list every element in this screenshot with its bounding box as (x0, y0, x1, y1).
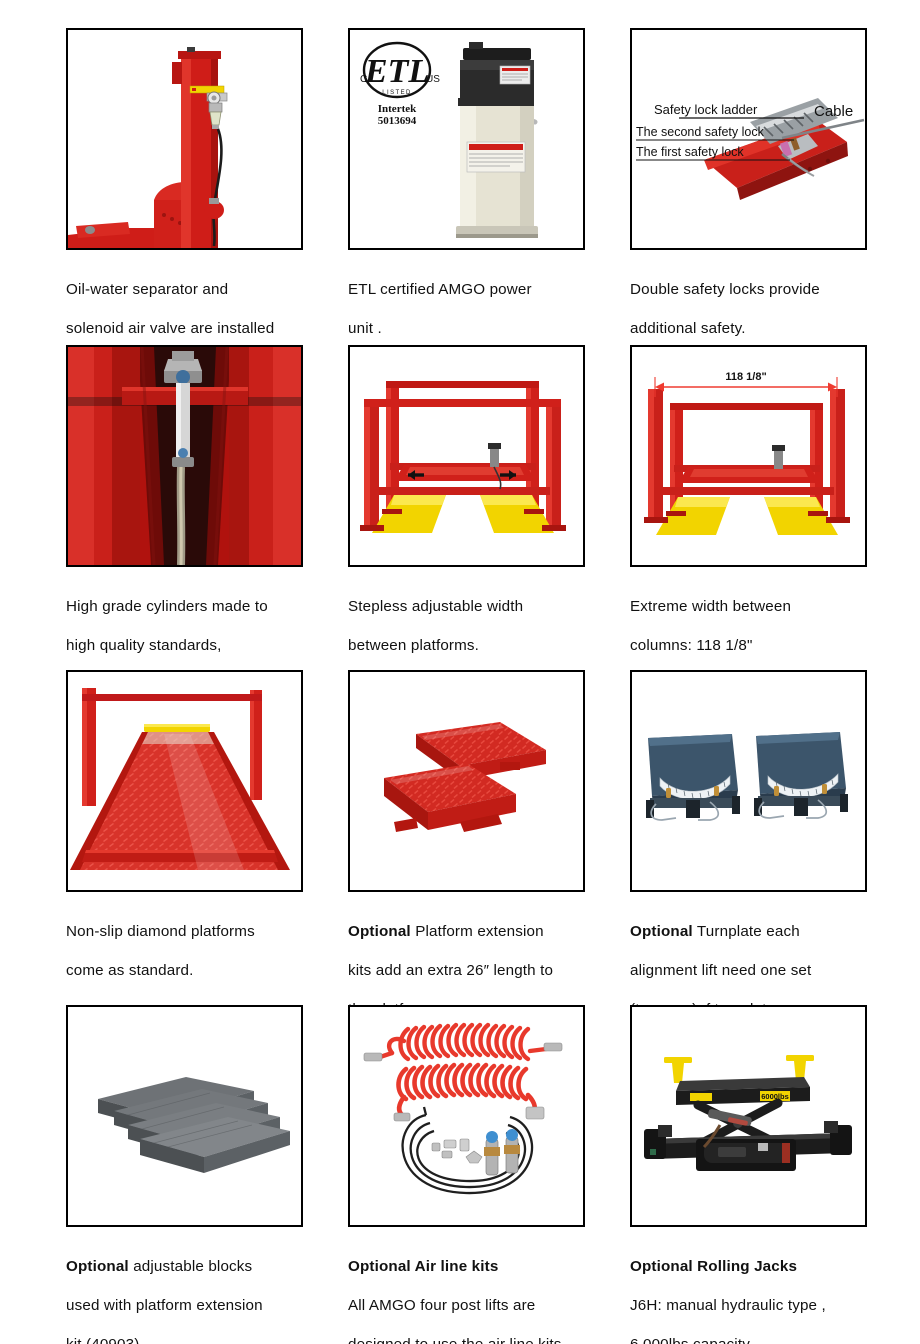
photo-panel-rolling-jacks: 6000lbs (630, 1005, 867, 1227)
caption-line: Optional Turnplate each (630, 922, 916, 941)
hose-fitting (394, 1113, 410, 1121)
etl-right-mark: US (426, 74, 440, 85)
illustration-rolling-jack: 6000lbs (632, 1007, 865, 1225)
caption-line: additional safety. (630, 319, 916, 338)
illustration-four-post-lift-width: 118 1/8" (632, 347, 865, 565)
caption-line: columns: 118 1/8" (630, 636, 916, 655)
optional-badge: Optional (630, 923, 693, 940)
feature-cell-extreme-width: 118 1/8" Extreme width between columns: … (630, 345, 916, 675)
caption-line: Non-slip diamond platforms (66, 922, 352, 941)
feature-cell-rolling-jacks: 6000lbs (630, 1005, 916, 1344)
feature-cell-double-safety-locks: Safety lock ladder Cable The second safe… (630, 28, 916, 358)
photo-panel-platform-extension-kits (348, 670, 585, 892)
etl-mark-text: ETL (364, 53, 429, 90)
turnplate-right (754, 732, 848, 818)
caption-etl-power-unit: ETL certified AMGO power unit . (348, 261, 634, 358)
illustration-platform-extension (350, 672, 583, 890)
caption-line: between platforms. (348, 636, 634, 655)
caption-line: Optional adjustable blocks (66, 1257, 352, 1276)
feature-cell-non-slip-platforms: Non-slip diamond platforms come as stand… (66, 670, 352, 1000)
label-cable: Cable (814, 103, 853, 120)
caption-line: Oil-water separator and (66, 280, 352, 299)
caption-stepless-adjustable-width: Stepless adjustable width between platfo… (348, 578, 634, 675)
photo-panel-etl-power-unit: ETL C US LISTED Intertek 5013694 (348, 28, 585, 250)
photo-panel-high-grade-cylinders (66, 345, 303, 567)
feature-cell-etl-power-unit: ETL C US LISTED Intertek 5013694 (348, 28, 634, 358)
caption-line: alignment lift need one set (630, 961, 916, 980)
caption-air-line-kits: Optional Air line kits All AMGO four pos… (348, 1238, 634, 1344)
caption-line: high quality standards, (66, 636, 352, 655)
feature-cell-air-line-kits: Optional Air line kits All AMGO four pos… (348, 1005, 634, 1344)
hose-fitting (526, 1107, 544, 1119)
caption-line: Double safety locks provide (630, 280, 916, 299)
etl-left-mark: C (360, 74, 367, 85)
illustration-turnplates (632, 672, 865, 890)
caption-heading: Optional Rolling Jacks (630, 1257, 916, 1276)
feature-cell-adjustable-blocks: Optional adjustable blocks used with pla… (66, 1005, 352, 1344)
photo-panel-stepless-adjustable-width (348, 345, 585, 567)
label-safety-lock-ladder: Safety lock ladder (654, 102, 758, 117)
etl-file-number: 5013694 (378, 115, 417, 127)
caption-line: solenoid air valve are installed (66, 319, 352, 338)
caption-line: 6,000lbs capacity. (630, 1335, 916, 1344)
caption-line-text: Platform extension (415, 923, 544, 940)
optional-badge: Optional (348, 923, 411, 940)
caption-line: J6H: manual hydraulic type , (630, 1296, 916, 1315)
illustration-air-line-kits (350, 1007, 583, 1225)
caption-line: ETL certified AMGO power (348, 280, 634, 299)
caption-line-text: adjustable blocks (133, 1258, 252, 1275)
caption-line: Optional Platform extension (348, 922, 634, 941)
etl-listed-text: LISTED (382, 90, 411, 96)
caption-line: All AMGO four post lifts are (348, 1296, 634, 1315)
caption-line: used with platform extension (66, 1296, 352, 1315)
caption-extreme-width: Extreme width between columns: 118 1/8" (630, 578, 916, 675)
hose-fitting (544, 1043, 562, 1051)
caption-rolling-jacks: Optional Rolling Jacks J6H: manual hydra… (630, 1238, 916, 1344)
optional-badge: Optional (66, 1258, 129, 1275)
illustration-double-safety-locks: Safety lock ladder Cable The second safe… (632, 30, 865, 248)
photo-panel-oil-water-separator (66, 28, 303, 250)
caption-line: kits add an extra 26″ length to (348, 961, 634, 980)
photo-panel-non-slip-platforms (66, 670, 303, 892)
turnplate-left (646, 734, 740, 820)
etl-agency-text: Intertek (378, 103, 417, 115)
caption-line: come as standard. (66, 961, 352, 980)
illustration-oil-water-separator (68, 30, 301, 248)
caption-line: Stepless adjustable width (348, 597, 634, 616)
label-first-safety-lock: The first safety lock (636, 145, 744, 159)
feature-cell-oil-water-separator: Oil-water separator and solenoid air val… (66, 28, 352, 397)
caption-line: unit . (348, 319, 634, 338)
feature-cell-stepless-adjustable-width: Stepless adjustable width between platfo… (348, 345, 634, 675)
caption-line: Extreme width between (630, 597, 916, 616)
caption-line-text: Turnplate each (697, 923, 800, 940)
illustration-adjustable-blocks (68, 1007, 301, 1225)
caption-line: designed to use the air line kits (348, 1335, 634, 1344)
hose-fitting (364, 1053, 382, 1061)
photo-panel-turnplates (630, 670, 867, 892)
caption-line: kit (40903), (66, 1335, 352, 1344)
feature-sheet: Oil-water separator and solenoid air val… (0, 0, 920, 1344)
photo-panel-air-line-kits (348, 1005, 585, 1227)
label-second-safety-lock: The second safety lock (636, 125, 765, 139)
photo-panel-adjustable-blocks (66, 1005, 303, 1227)
caption-double-safety-locks: Double safety locks provide additional s… (630, 261, 916, 358)
illustration-diamond-platform (68, 672, 301, 890)
caption-heading: Optional Air line kits (348, 1257, 634, 1276)
feature-grid: Oil-water separator and solenoid air val… (0, 0, 920, 1344)
photo-panel-extreme-width: 118 1/8" (630, 345, 867, 567)
photo-panel-double-safety-locks: Safety lock ladder Cable The second safe… (630, 28, 867, 250)
caption-line: High grade cylinders made to (66, 597, 352, 616)
illustration-four-post-lift-adjustable (350, 347, 583, 565)
caption-adjustable-blocks: Optional adjustable blocks used with pla… (66, 1238, 352, 1344)
label-width-dimension: 118 1/8" (725, 371, 766, 383)
illustration-etl-power-unit: ETL C US LISTED Intertek 5013694 (350, 30, 583, 248)
illustration-high-grade-cylinders (68, 347, 301, 565)
caption-non-slip-platforms: Non-slip diamond platforms come as stand… (66, 903, 352, 1000)
